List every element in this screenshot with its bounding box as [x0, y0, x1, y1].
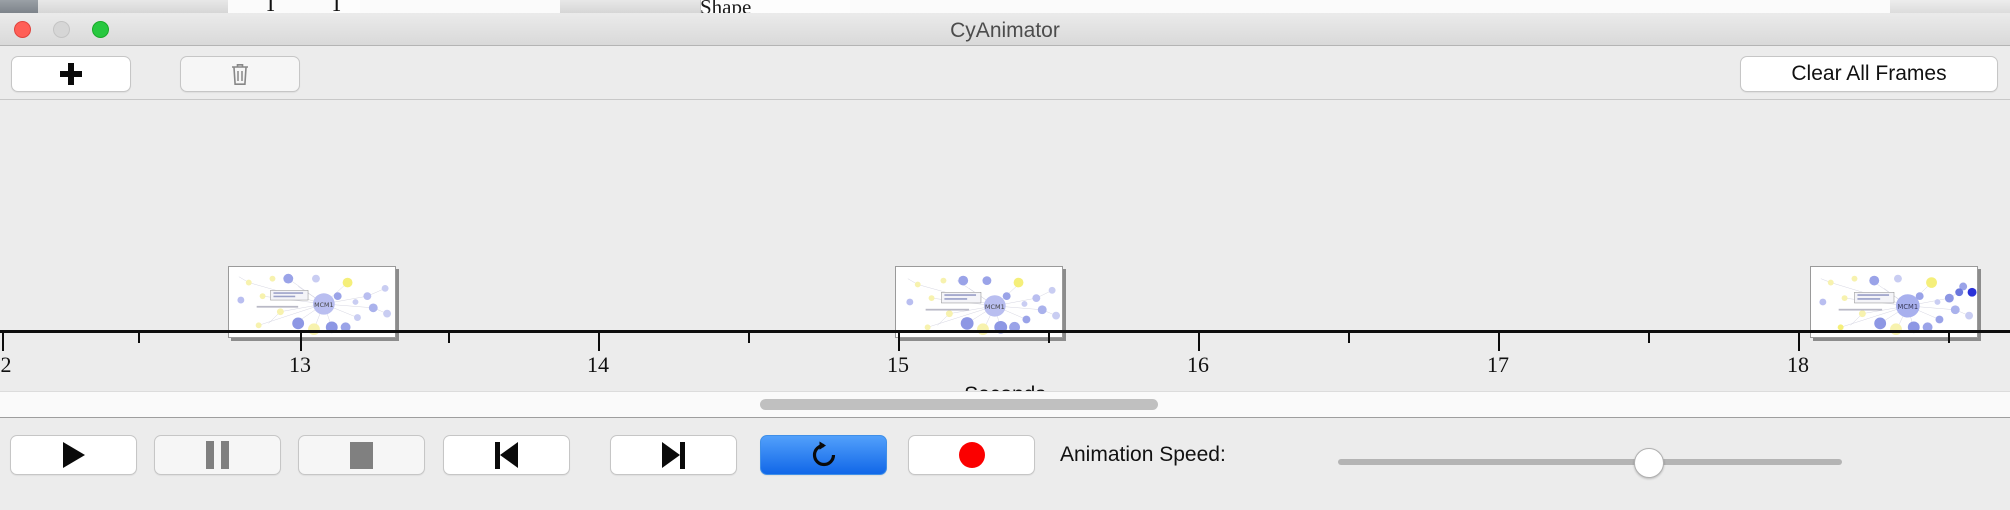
pause-button[interactable] — [154, 435, 281, 475]
axis-tick-major — [2, 333, 4, 351]
bg-segment — [228, 0, 256, 13]
clear-all-frames-label: Clear All Frames — [1791, 62, 1946, 86]
animation-speed-label: Animation Speed: — [1060, 443, 1226, 467]
axis-tick-major — [1498, 333, 1500, 351]
skip-forward-icon — [662, 442, 685, 469]
axis-tick-major — [300, 333, 302, 351]
axis-tick-minor — [138, 333, 140, 343]
axis-tick-label: 13 — [289, 352, 311, 378]
svg-text:MCM1: MCM1 — [985, 303, 1005, 311]
bg-segment — [0, 0, 39, 13]
scrollbar-thumb[interactable] — [760, 399, 1158, 410]
bg-segment — [850, 0, 1490, 13]
axis-title: Seconds — [0, 383, 2010, 391]
axis-tick-major — [1798, 333, 1800, 351]
axis-tick-minor — [748, 333, 750, 343]
frame-thumbnail[interactable]: MCM1 — [228, 266, 396, 338]
network-graph-preview: MCM1 — [1811, 267, 1977, 337]
axis-tick-minor — [448, 333, 450, 343]
timeline-horizontal-scrollbar[interactable] — [0, 391, 2010, 417]
skip-to-start-button[interactable] — [443, 435, 570, 475]
slider-thumb[interactable] — [1634, 448, 1664, 478]
window-title: CyAnimator — [0, 19, 2010, 43]
pause-icon — [206, 441, 229, 469]
loop-icon — [809, 440, 839, 470]
add-frame-button[interactable] — [11, 56, 131, 92]
axis-tick-minor — [1948, 333, 1950, 343]
bg-segment — [1890, 0, 2010, 13]
frame-thumbnail[interactable]: MCM1 — [895, 266, 1063, 338]
trash-icon — [230, 62, 250, 86]
axis-tick-label: 17 — [1487, 352, 1509, 378]
window-titlebar[interactable]: CyAnimator — [0, 13, 2010, 46]
bg-segment — [360, 0, 560, 13]
skip-to-end-button[interactable] — [610, 435, 737, 475]
bg-glyph: T — [330, 0, 343, 13]
bg-segment — [38, 0, 229, 13]
svg-text:MCM1: MCM1 — [1898, 303, 1919, 311]
plus-icon — [60, 63, 82, 85]
axis-tick-label: 14 — [587, 352, 609, 378]
network-graph-preview: MCM1 — [896, 267, 1062, 337]
animation-speed-slider[interactable] — [1338, 448, 1842, 476]
frame-thumbnail[interactable]: MCM1 — [1810, 266, 1978, 338]
record-icon — [959, 442, 985, 468]
loop-button[interactable] — [760, 435, 887, 475]
svg-text:MCM1: MCM1 — [314, 302, 333, 309]
skip-back-icon — [495, 442, 518, 469]
network-graph-preview: MCM1 — [229, 267, 395, 337]
axis-tick-label: 15 — [887, 352, 909, 378]
axis-tick-minor — [1648, 333, 1650, 343]
record-button[interactable] — [908, 435, 1035, 475]
axis-tick-major — [1198, 333, 1200, 351]
cyanimator-window: CyAnimator Clear All Frames — [0, 13, 2010, 510]
axis-tick-minor — [1048, 333, 1050, 343]
background-application-strip: T T Shape — [0, 0, 2010, 13]
timeline-panel[interactable]: MCM1 — [0, 100, 2010, 391]
delete-frame-button[interactable] — [180, 56, 300, 92]
bg-segment — [560, 0, 701, 13]
axis-tick-label: 2 — [1, 352, 12, 378]
axis-tick-minor — [1348, 333, 1350, 343]
frame-toolbar: Clear All Frames — [0, 46, 2010, 100]
stop-button[interactable] — [298, 435, 425, 475]
clear-all-frames-button[interactable]: Clear All Frames — [1740, 56, 1998, 92]
playback-control-bar: Animation Speed: — [0, 417, 2010, 502]
axis-tick-label: 16 — [1187, 352, 1209, 378]
axis-tick-major — [598, 333, 600, 351]
bg-segment — [1490, 0, 1890, 13]
play-button[interactable] — [10, 435, 137, 475]
axis-tick-label: 18 — [1787, 352, 1809, 378]
bg-glyph: T — [264, 0, 277, 13]
slider-track — [1338, 459, 1842, 465]
axis-tick-major — [898, 333, 900, 351]
bg-app-label: Shape — [700, 0, 751, 13]
play-icon — [63, 442, 85, 468]
stop-icon — [350, 442, 373, 469]
